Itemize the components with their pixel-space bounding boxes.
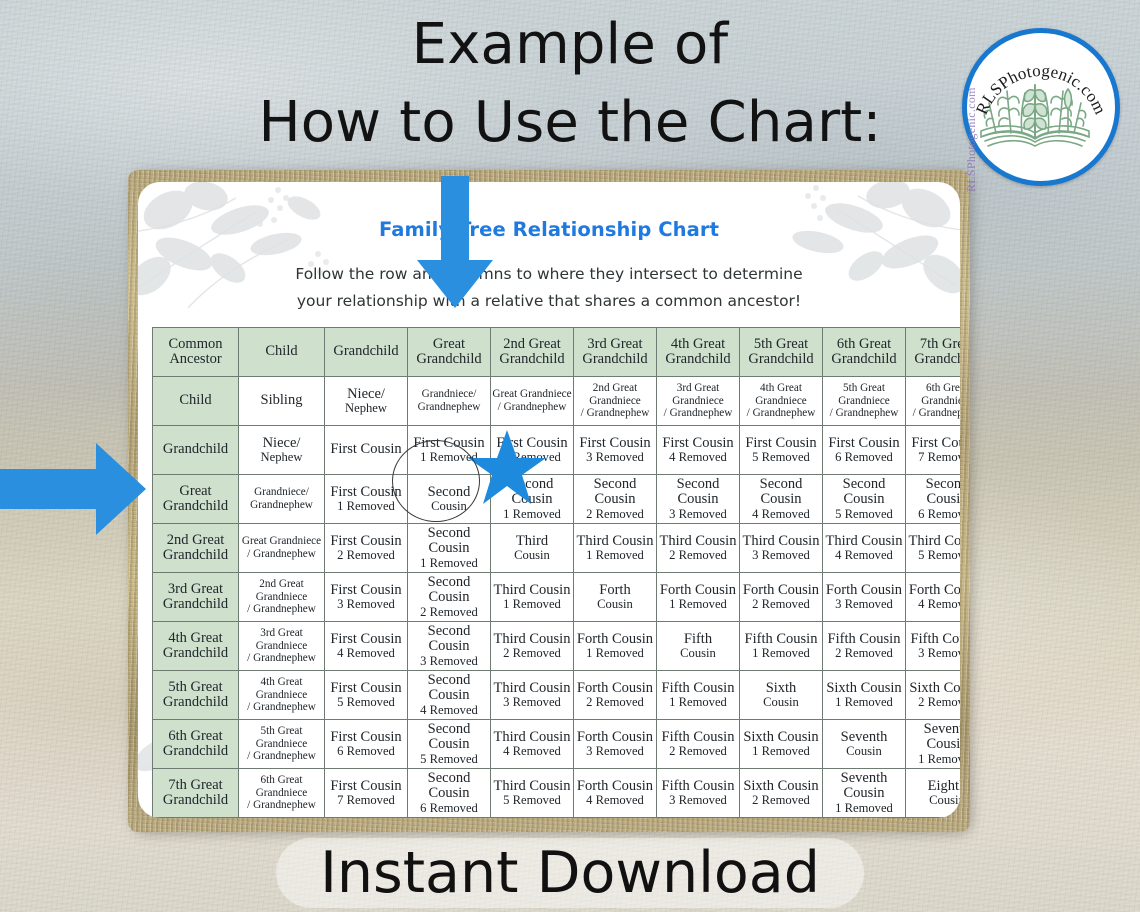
table-header: Common AncestorChildGrandchildGreat Gran… [153, 328, 961, 377]
table-col-header: Great Grandchild [408, 328, 491, 377]
table-cell-line2: 2 Removed [575, 508, 655, 521]
instant-download-plate: Instant Download [276, 838, 864, 908]
chart-paper: Family Tree Relationship Chart Follow th… [138, 182, 960, 818]
table-cell: Third Cousin5 Removed [491, 769, 574, 818]
table-cell-line2: 2 Removed [907, 696, 960, 709]
table-row: 3rd Great Grandchild2nd Great Grandniece… [153, 573, 961, 622]
table-cell-line1: Forth Cousin [575, 730, 655, 745]
table-cell: First Cousin2 Removed [325, 524, 408, 573]
table-cell-line1: 4th Great Grandniece [741, 382, 821, 407]
table-col-header: Grandchild [325, 328, 408, 377]
table-row: 5th Great Grandchild4th Great Grandniece… [153, 671, 961, 720]
table-cell-line2: 2 Removed [658, 745, 738, 758]
table-cell: Second Cousin5 Removed [408, 720, 491, 769]
table-cell: Great Grandniece/ Grandnephew [239, 524, 325, 573]
table-cell-line1: Forth Cousin [575, 632, 655, 647]
table-cell-line1: 5th Great Grandniece [824, 382, 904, 407]
table-cell-line2: 1 Removed [824, 696, 904, 709]
star-annotation [466, 428, 548, 508]
table-cell-line2: 1 Removed [658, 598, 738, 611]
table-cell: Forth Cousin4 Removed [574, 769, 657, 818]
table-col-header: Common Ancestor [153, 328, 239, 377]
table-cell-line1: Fifth Cousin [741, 632, 821, 647]
table-cell: 5th Great Grandniece/ Grandnephew [239, 720, 325, 769]
table-cell: Forth Cousin1 Removed [657, 573, 740, 622]
table-cell-line1: Great Grandniece [492, 388, 572, 401]
table-cell-line2: Cousin [907, 794, 960, 807]
table-cell-line2: Cousin [575, 598, 655, 611]
table-cell-line2: 2 Removed [326, 549, 406, 562]
table-cell-line1: 6th Great Grandniece [240, 774, 323, 799]
chart-subtitle-line1: Follow the row and columns to where they… [138, 265, 960, 283]
table-row-header: Great Grandchild [153, 475, 239, 524]
table-cell-line2: 6 Removed [907, 508, 960, 521]
table-row-header: Grandchild [153, 426, 239, 475]
table-cell-line1: Sixth Cousin [824, 681, 904, 696]
table-cell-line1: Second Cousin [409, 771, 489, 801]
table-cell-line2: 3 Removed [575, 745, 655, 758]
table-cell-line1: First Cousin [741, 436, 821, 451]
table-cell-line2: 5 Removed [741, 451, 821, 464]
table-col-header: 3rd Great Grandchild [574, 328, 657, 377]
table-cell-line2: / Grandnephew [240, 750, 323, 763]
table-cell-line1: Second Cousin [409, 624, 489, 654]
table-cell-line2: / Grandnephew [741, 407, 821, 420]
table-cell-line2: Cousin [658, 647, 738, 660]
table-cell-line2: / Grandnephew [240, 603, 323, 616]
table-cell: Third Cousin1 Removed [491, 573, 574, 622]
table-cell-line1: Sixth Cousin [907, 681, 960, 696]
table-cell: Forth Cousin1 Removed [574, 622, 657, 671]
chart-subtitle-line2: your relationship with a relative that s… [138, 292, 960, 310]
table-cell: ForthCousin [574, 573, 657, 622]
relationship-table-wrapper: Common AncestorChildGrandchildGreat Gran… [152, 327, 946, 818]
table-cell-line2: 2 Removed [741, 794, 821, 807]
table-cell: Fifth Cousin3 Removed [906, 622, 961, 671]
table-row: 2nd Great GrandchildGreat Grandniece/ Gr… [153, 524, 961, 573]
table-cell-line1: First Cousin [326, 442, 406, 457]
table-cell-line2: 4 Removed [741, 508, 821, 521]
table-cell: Third Cousin4 Removed [491, 720, 574, 769]
table-cell-line1: Second Cousin [658, 477, 738, 507]
table-cell-line2: 4 Removed [824, 549, 904, 562]
table-cell-line1: First Cousin [326, 779, 406, 794]
table-col-header: 6th Great Grandchild [823, 328, 906, 377]
table-cell: EighthCousin [906, 769, 961, 818]
table-cell: Forth Cousin2 Removed [740, 573, 823, 622]
table-cell: Sixth Cousin2 Removed [740, 769, 823, 818]
table-cell-line1: Third Cousin [658, 534, 738, 549]
table-cell: Niece/Nephew [239, 426, 325, 475]
table-cell-line1: Fifth [658, 632, 738, 647]
table-cell-line2: 4 Removed [409, 704, 489, 717]
table-cell-line2: 2 Removed [658, 549, 738, 562]
table-cell-line1: First Cousin [575, 436, 655, 451]
table-cell-line1: Sibling [240, 393, 323, 408]
table-cell-line2: Cousin [824, 745, 904, 758]
table-cell: Second Cousin4 Removed [408, 671, 491, 720]
table-cell-line1: Sixth [741, 681, 821, 696]
table-cell-line1: Fifth Cousin [658, 779, 738, 794]
table-cell: 3rd Great Grandniece/ Grandnephew [657, 377, 740, 426]
book-and-plants-icon [967, 33, 1105, 171]
relationship-table: Common AncestorChildGrandchildGreat Gran… [152, 327, 960, 818]
table-row: 6th Great Grandchild5th Great Grandniece… [153, 720, 961, 769]
table-cell-line2: / Grandnephew [575, 407, 655, 420]
table-cell-line2: 1 Removed [409, 557, 489, 570]
table-cell-line1: Niece/ [326, 387, 406, 402]
table-cell-line2: 3 Removed [658, 794, 738, 807]
table-cell: Grandniece/Grandnephew [408, 377, 491, 426]
table-cell-line2: 4 Removed [326, 647, 406, 660]
table-cell-line1: Third Cousin [824, 534, 904, 549]
table-cell: Third Cousin5 Removed [906, 524, 961, 573]
table-cell: Seventh Cousin1 Removed [823, 769, 906, 818]
circle-highlight-annotation [392, 440, 480, 522]
table-cell-line2: 1 Removed [907, 753, 960, 766]
table-col-header: 4th Great Grandchild [657, 328, 740, 377]
table-cell-line2: 6 Removed [824, 451, 904, 464]
table-cell-line2: 5 Removed [907, 549, 960, 562]
table-cell-line1: First Cousin [326, 534, 406, 549]
table-cell: Second Cousin6 Removed [408, 769, 491, 818]
table-cell-line1: Forth Cousin [907, 583, 960, 598]
table-cell-line1: Third Cousin [741, 534, 821, 549]
table-cell-line1: Forth Cousin [824, 583, 904, 598]
table-cell-line2: 1 Removed [575, 549, 655, 562]
table-cell-line1: 2nd Great Grandniece [240, 578, 323, 603]
table-cell-line2: 1 Removed [741, 647, 821, 660]
table-row-header: 5th Great Grandchild [153, 671, 239, 720]
table-row-header: 2nd Great Grandchild [153, 524, 239, 573]
table-cell: 2nd Great Grandniece/ Grandnephew [239, 573, 325, 622]
table-cell: First Cousin4 Removed [325, 622, 408, 671]
table-cell: Third Cousin1 Removed [574, 524, 657, 573]
instant-download-label: Instant Download [320, 840, 820, 906]
table-cell: Seventh Cousin1 Removed [906, 720, 961, 769]
table-cell: Great Grandniece/ Grandnephew [491, 377, 574, 426]
table-cell-line1: First Cousin [658, 436, 738, 451]
table-cell-line1: Second Cousin [575, 477, 655, 507]
table-cell: Fifth Cousin2 Removed [823, 622, 906, 671]
table-cell: Second Cousin3 Removed [408, 622, 491, 671]
table-cell-line2: / Grandnephew [240, 701, 323, 714]
table-col-header: 2nd Great Grandchild [491, 328, 574, 377]
table-cell: Sixth Cousin2 Removed [906, 671, 961, 720]
down-arrow-annotation [415, 176, 495, 310]
table-cell-line1: First Cousin [326, 681, 406, 696]
table-cell-line2: 2 Removed [824, 647, 904, 660]
table-row: 4th Great Grandchild3rd Great Grandniece… [153, 622, 961, 671]
table-row: Great GrandchildGrandniece/GrandnephewFi… [153, 475, 961, 524]
table-cell-line2: 5 Removed [409, 753, 489, 766]
table-cell-line1: Fifth Cousin [824, 632, 904, 647]
table-cell: 5th Great Grandniece/ Grandnephew [823, 377, 906, 426]
table-cell: Forth Cousin2 Removed [574, 671, 657, 720]
table-cell: First Cousin7 Removed [325, 769, 408, 818]
table-cell-line2: 6 Removed [409, 802, 489, 815]
table-cell-line2: Cousin [492, 549, 572, 562]
table-row: GrandchildNiece/NephewFirst CousinFirst … [153, 426, 961, 475]
table-cell-line1: Second Cousin [409, 526, 489, 556]
table-cell-line1: Seventh [824, 730, 904, 745]
table-cell-line1: Second Cousin [907, 477, 960, 507]
table-cell: First Cousin3 Removed [325, 573, 408, 622]
table-cell: 2nd Great Grandniece/ Grandnephew [574, 377, 657, 426]
table-cell: Third Cousin3 Removed [740, 524, 823, 573]
table-cell: Second Cousin2 Removed [408, 573, 491, 622]
table-row: ChildSiblingNiece/NephewGrandniece/Grand… [153, 377, 961, 426]
table-header-row: Common AncestorChildGrandchildGreat Gran… [153, 328, 961, 377]
table-cell-line2: 4 Removed [575, 794, 655, 807]
table-cell-line1: Third Cousin [907, 534, 960, 549]
table-cell-line1: Third Cousin [492, 583, 572, 598]
table-cell-line2: 2 Removed [575, 696, 655, 709]
table-cell-line2: 4 Removed [658, 451, 738, 464]
table-cell: Niece/Nephew [325, 377, 408, 426]
table-cell-line2: / Grandnephew [240, 652, 323, 665]
table-cell: Second Cousin5 Removed [823, 475, 906, 524]
table-row-header: Child [153, 377, 239, 426]
table-cell-line1: 6th Great Grandniece [907, 382, 960, 407]
table-cell-line1: Second Cousin [741, 477, 821, 507]
table-cell-line1: Forth Cousin [575, 779, 655, 794]
table-cell-line2: 7 Removed [907, 451, 960, 464]
table-cell-line1: Sixth Cousin [741, 730, 821, 745]
table-cell-line2: 1 Removed [741, 745, 821, 758]
table-cell: Forth Cousin4 Removed [906, 573, 961, 622]
table-cell: Sibling [239, 377, 325, 426]
table-cell-line2: 2 Removed [492, 647, 572, 660]
table-cell-line2: 3 Removed [326, 598, 406, 611]
table-cell-line2: 3 Removed [741, 549, 821, 562]
table-cell-line2: 3 Removed [409, 655, 489, 668]
chart-sheet: Family Tree Relationship Chart Follow th… [128, 170, 970, 832]
table-cell: 6th Great Grandniece/ Grandnephew [239, 769, 325, 818]
table-cell-line2: / Grandnephew [907, 407, 960, 420]
table-cell-line1: Third Cousin [492, 632, 572, 647]
table-cell-line1: 4th Great Grandniece [240, 676, 323, 701]
table-cell-line1: Grandniece/ [240, 486, 323, 499]
table-cell-line1: Fifth Cousin [658, 681, 738, 696]
right-arrow-annotation [0, 437, 148, 541]
table-cell-line2: Grandnephew [240, 499, 323, 512]
table-cell: Fifth Cousin3 Removed [657, 769, 740, 818]
table-cell-line2: 3 Removed [492, 696, 572, 709]
brand-logo-badge: RLSPhotogenic.com [962, 28, 1120, 186]
table-cell-line1: 5th Great Grandniece [240, 725, 323, 750]
table-cell-line1: First Cousin [326, 632, 406, 647]
table-cell-line1: First Cousin [907, 436, 960, 451]
table-cell: First Cousin5 Removed [325, 671, 408, 720]
table-cell-line2: Grandnephew [409, 401, 489, 414]
table-cell: ThirdCousin [491, 524, 574, 573]
table-col-header: 7th Great Grandchild [906, 328, 961, 377]
table-body: ChildSiblingNiece/NephewGrandniece/Grand… [153, 377, 961, 818]
table-cell-line2: 1 Removed [658, 696, 738, 709]
side-watermark: RLSPhotogenic.com [964, 87, 979, 192]
table-cell: First Cousin6 Removed [823, 426, 906, 475]
table-row-header: 6th Great Grandchild [153, 720, 239, 769]
table-cell: Fifth Cousin1 Removed [657, 671, 740, 720]
table-cell-line2: 3 Removed [575, 451, 655, 464]
table-cell: Fifth Cousin2 Removed [657, 720, 740, 769]
table-cell: Second Cousin6 Removed [906, 475, 961, 524]
table-cell: Grandniece/Grandnephew [239, 475, 325, 524]
table-cell-line2: / Grandnephew [240, 548, 323, 561]
table-cell-line1: Seventh Cousin [824, 771, 904, 801]
table-cell-line2: Nephew [240, 451, 323, 464]
table-cell: Second Cousin1 Removed [408, 524, 491, 573]
table-cell-line2: 1 Removed [326, 500, 406, 513]
table-row: 7th Great Grandchild6th Great Grandniece… [153, 769, 961, 818]
table-cell: Second Cousin2 Removed [574, 475, 657, 524]
table-cell-line2: Cousin [741, 696, 821, 709]
table-cell-line1: Forth Cousin [658, 583, 738, 598]
table-cell-line2: 5 Removed [492, 794, 572, 807]
table-cell-line1: Third Cousin [492, 681, 572, 696]
table-cell-line1: 2nd Great Grandniece [575, 382, 655, 407]
table-cell-line1: Eighth [907, 779, 960, 794]
table-cell: Sixth Cousin1 Removed [823, 671, 906, 720]
table-cell-line1: First Cousin [326, 583, 406, 598]
table-cell-line1: Fifth Cousin [907, 632, 960, 647]
table-cell-line1: 3rd Great Grandniece [240, 627, 323, 652]
table-cell: 6th Great Grandniece/ Grandnephew [906, 377, 961, 426]
table-cell-line1: Grandniece/ [409, 388, 489, 401]
table-cell: Second Cousin4 Removed [740, 475, 823, 524]
table-cell: Sixth Cousin1 Removed [740, 720, 823, 769]
table-cell-line1: Second Cousin [409, 575, 489, 605]
table-cell-line1: Sixth Cousin [741, 779, 821, 794]
table-row-header: 4th Great Grandchild [153, 622, 239, 671]
table-cell: First Cousin6 Removed [325, 720, 408, 769]
table-cell-line2: 7 Removed [326, 794, 406, 807]
table-col-header: 5th Great Grandchild [740, 328, 823, 377]
table-cell-line2: 4 Removed [907, 598, 960, 611]
table-cell-line2: 1 Removed [492, 598, 572, 611]
table-col-header: Child [239, 328, 325, 377]
table-cell-line2: 1 Removed [575, 647, 655, 660]
table-cell: Third Cousin3 Removed [491, 671, 574, 720]
table-cell-line2: 5 Removed [326, 696, 406, 709]
table-cell-line1: Seventh Cousin [907, 722, 960, 752]
table-cell-line1: Second Cousin [409, 673, 489, 703]
table-cell: 3rd Great Grandniece/ Grandnephew [239, 622, 325, 671]
table-cell: First Cousin4 Removed [657, 426, 740, 475]
table-row-header: 3rd Great Grandchild [153, 573, 239, 622]
table-row-header: 7th Great Grandchild [153, 769, 239, 818]
table-cell-line2: 6 Removed [326, 745, 406, 758]
table-cell-line1: Second Cousin [824, 477, 904, 507]
table-cell-line2: 3 Removed [658, 508, 738, 521]
table-cell-line2: 1 Removed [492, 508, 572, 521]
table-cell-line1: Second Cousin [409, 722, 489, 752]
table-cell-line2: 5 Removed [824, 508, 904, 521]
table-cell: Fifth Cousin1 Removed [740, 622, 823, 671]
table-cell: First Cousin3 Removed [574, 426, 657, 475]
table-cell-line1: Forth [575, 583, 655, 598]
table-cell: SeventhCousin [823, 720, 906, 769]
table-cell-line1: Forth Cousin [741, 583, 821, 598]
table-cell: SixthCousin [740, 671, 823, 720]
chart-title: Family Tree Relationship Chart [138, 218, 960, 241]
table-cell: Third Cousin2 Removed [657, 524, 740, 573]
table-cell-line1: Forth Cousin [575, 681, 655, 696]
table-cell-line2: / Grandnephew [658, 407, 738, 420]
table-cell-line2: 1 Removed [824, 802, 904, 815]
table-cell-line1: First Cousin [824, 436, 904, 451]
table-cell-line2: 2 Removed [409, 606, 489, 619]
table-cell-line1: Niece/ [240, 436, 323, 451]
table-cell: Second Cousin3 Removed [657, 475, 740, 524]
table-cell-line2: / Grandnephew [240, 799, 323, 812]
table-cell-line2: 3 Removed [824, 598, 904, 611]
table-cell: Third Cousin2 Removed [491, 622, 574, 671]
table-cell: 4th Great Grandniece/ Grandnephew [740, 377, 823, 426]
screenshot-root: Example of How to Use the Chart: [0, 0, 1140, 912]
footer-area: Instant Download [0, 838, 1140, 908]
table-cell: First Cousin7 Removed [906, 426, 961, 475]
table-cell-line1: Third [492, 534, 572, 549]
table-cell-line2: / Grandnephew [824, 407, 904, 420]
table-cell-line1: First Cousin [326, 730, 406, 745]
table-cell: First Cousin5 Removed [740, 426, 823, 475]
table-cell-line1: Third Cousin [575, 534, 655, 549]
table-cell: Forth Cousin3 Removed [823, 573, 906, 622]
table-cell-line1: Great Grandniece [240, 535, 323, 548]
table-cell-line1: Fifth Cousin [658, 730, 738, 745]
table-cell-line2: 4 Removed [492, 745, 572, 758]
table-cell-line2: 3 Removed [907, 647, 960, 660]
table-cell: Forth Cousin3 Removed [574, 720, 657, 769]
table-cell: 4th Great Grandniece/ Grandnephew [239, 671, 325, 720]
table-cell-line2: / Grandnephew [492, 401, 572, 414]
table-cell-line2: Nephew [326, 402, 406, 415]
table-cell: FifthCousin [657, 622, 740, 671]
table-cell-line1: Third Cousin [492, 730, 572, 745]
table-cell: Third Cousin4 Removed [823, 524, 906, 573]
table-cell-line1: 3rd Great Grandniece [658, 382, 738, 407]
table-cell-line1: Third Cousin [492, 779, 572, 794]
table-cell-line2: 2 Removed [741, 598, 821, 611]
